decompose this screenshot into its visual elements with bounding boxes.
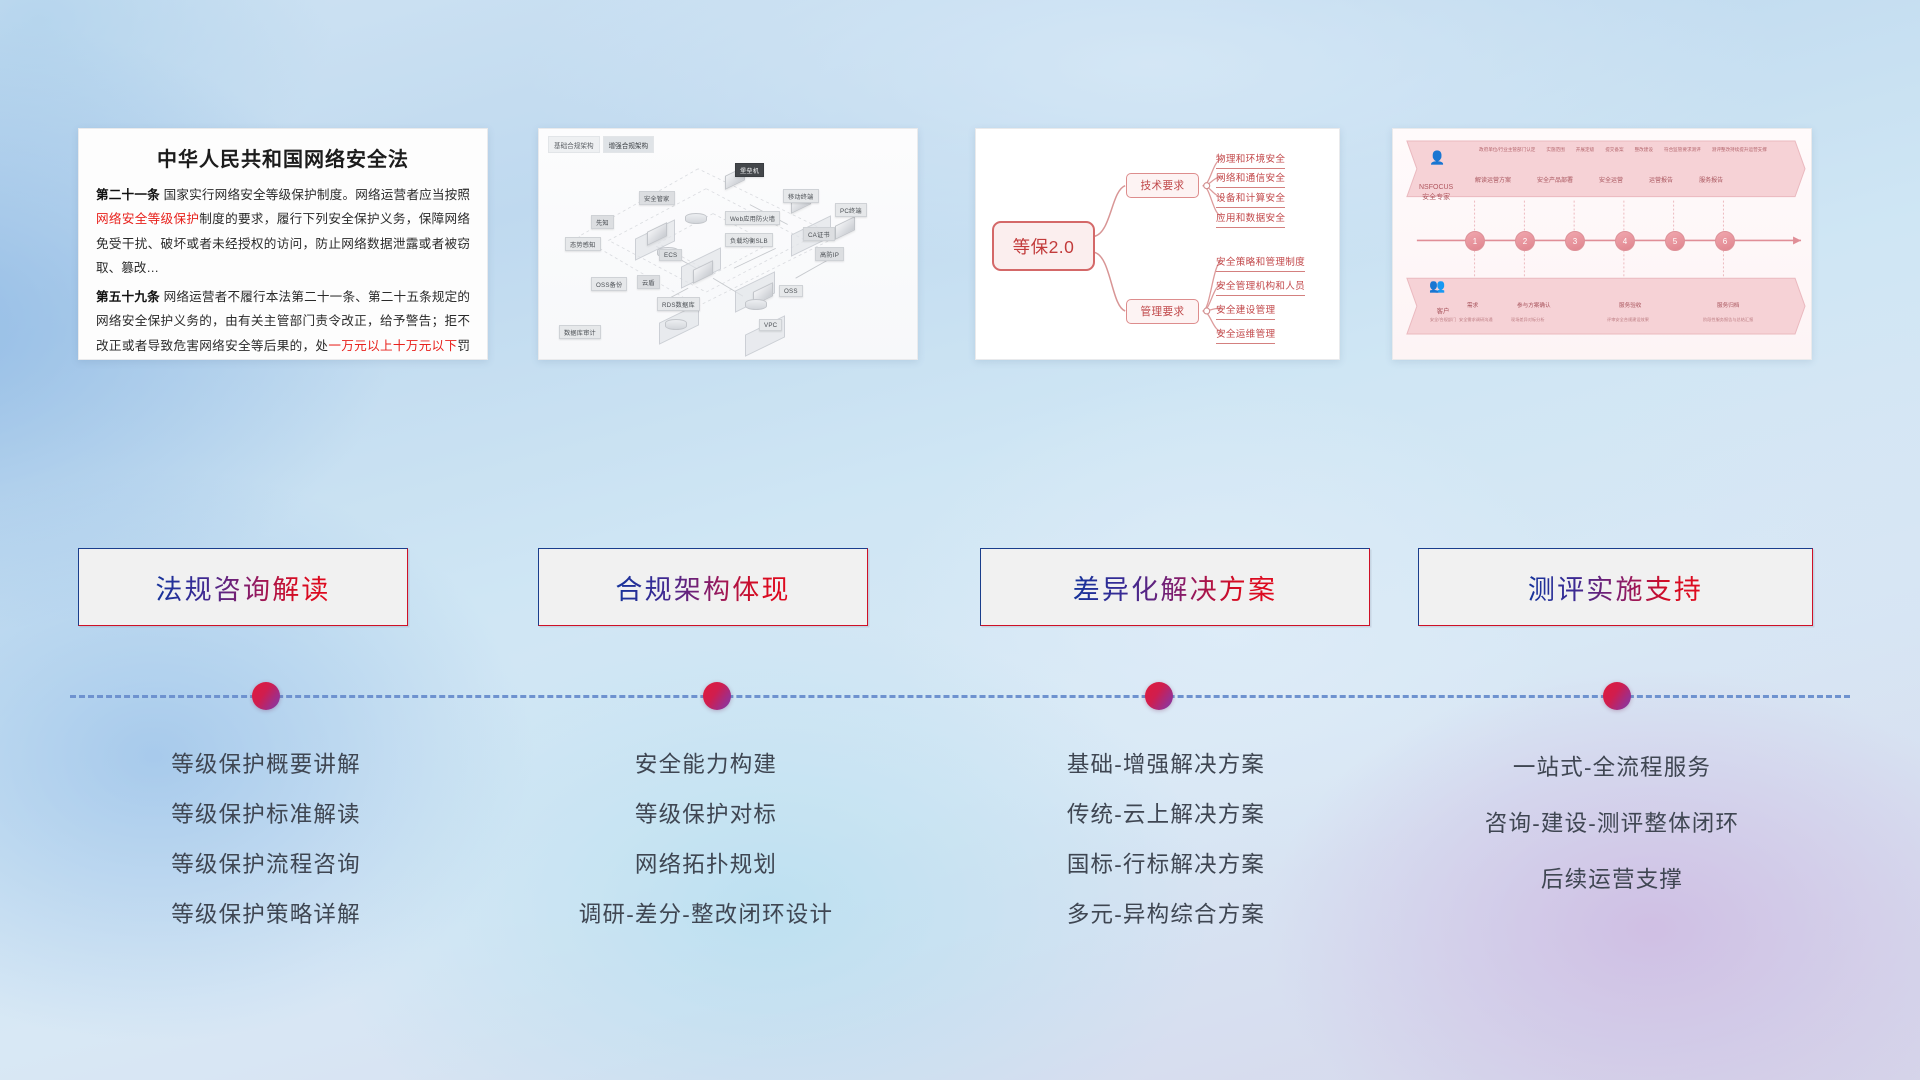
nsfocus-brand-line2: 安全专家: [1419, 193, 1453, 203]
node-ca-certificate[interactable]: CA证书: [803, 227, 835, 241]
svc-mid-item-2: 安全运营: [1599, 175, 1623, 184]
svc-top-item-4: 整改建设: [1635, 147, 1653, 153]
mindmap-leaf-physical-environment[interactable]: 物理和环境安全: [1216, 151, 1285, 169]
mindmap-leaf-security-policy[interactable]: 安全策略和管理制度: [1216, 254, 1305, 272]
expert-avatar-icon: 👤: [1429, 151, 1445, 164]
timeline-dot-3[interactable]: [1145, 682, 1173, 710]
list-item: 多元-异构综合方案: [966, 890, 1366, 940]
node-slb[interactable]: 负载均衡SLB: [725, 233, 773, 247]
node-oss-backup[interactable]: OSS备份: [591, 277, 627, 291]
mindmap-branch-technical[interactable]: 技术要求: [1126, 173, 1199, 198]
nsfocus-brand: NSFOCUS 安全专家: [1419, 183, 1453, 203]
nsfocus-brand-line1: NSFOCUS: [1419, 183, 1453, 193]
list-item: 等级保护标准解读: [106, 790, 426, 840]
architecture-diagram: 基础合规架构 增强合规架构: [539, 129, 917, 359]
node-xianzhi[interactable]: 先知: [591, 215, 614, 229]
article-59-label: 第五十九条: [96, 290, 160, 304]
svc-badge-service-archive: 服务归档: [1717, 301, 1739, 309]
detail-list-assessment: 一站式-全流程服务 咨询-建设-测评整体闭环 后续运营支撑: [1412, 740, 1812, 908]
timeline-dashed-line: [70, 695, 1850, 698]
list-item: 传统-云上解决方案: [966, 790, 1366, 840]
mindmap-root-node[interactable]: 等保2.0: [992, 221, 1095, 271]
banner-compliance-architecture[interactable]: 合规架构体现: [538, 548, 868, 626]
banner-differentiated-solution[interactable]: 差异化解决方案: [980, 548, 1370, 626]
list-item: 等级保护流程咨询: [106, 840, 426, 890]
card-compliance-architecture[interactable]: 基础合规架构 增强合规架构: [538, 128, 918, 360]
law-document: 中华人民共和国网络安全法 第二十一条 国家实行网络安全等级保护制度。网络运营者应…: [79, 129, 487, 360]
list-item: 等级保护策略详解: [106, 890, 426, 940]
iso-cylinder: [745, 299, 767, 310]
node-security-butler[interactable]: 安全管家: [639, 191, 675, 205]
banner-label-4: 测评实施支持: [1528, 568, 1703, 607]
node-ecs[interactable]: ECS: [659, 249, 682, 261]
svc-badge-requirement: 需求: [1467, 301, 1478, 309]
svc-badge-service-acceptance: 服务验收: [1619, 301, 1641, 309]
svc-mid-item-3: 运营报告: [1649, 175, 1673, 184]
banner-label-2: 合规架构体现: [615, 568, 790, 607]
svc-sub-0: 安全需求调研沟通: [1459, 317, 1493, 323]
list-item: 调研-差分-整改闭环设计: [546, 890, 866, 940]
mindmap-leaf-operation-maintenance[interactable]: 安全运维管理: [1216, 326, 1275, 344]
article-21-body-a: 国家实行网络安全等级保护制度。网络运营者应当按照: [164, 188, 470, 202]
banner-regulation-consulting[interactable]: 法规咨询解读: [78, 548, 408, 626]
node-database-audit[interactable]: 数据库审计: [559, 325, 601, 339]
list-item: 安全能力构建: [546, 740, 866, 790]
timeline-dot-2[interactable]: [703, 682, 731, 710]
svc-mid-item-4: 服务报告: [1699, 175, 1723, 184]
node-anti-ddos-ip[interactable]: 高防IP: [815, 247, 844, 261]
node-cloud-shield[interactable]: 云盾: [637, 275, 660, 289]
mindmap-leaf-application-data[interactable]: 应用和数据安全: [1216, 210, 1285, 228]
list-item: 咨询-建设-测评整体闭环: [1412, 796, 1812, 852]
card-mindmap-dengbao[interactable]: 等保2.0 技术要求 管理要求 物理和环境安全 网络和通信安全 设备和计算安全 …: [975, 128, 1340, 360]
list-item: 后续运营支撑: [1412, 852, 1812, 908]
node-waf[interactable]: Web应用防火墙: [725, 211, 780, 225]
node-situational-awareness[interactable]: 态势感知: [565, 237, 601, 251]
svc-sub-3: 阶段性服务报告与总结汇报: [1703, 317, 1753, 323]
svc-top-item-1: 实施范围: [1546, 147, 1564, 153]
card-cybersecurity-law[interactable]: 中华人民共和国网络安全法 第二十一条 国家实行网络安全等级保护制度。网络运营者应…: [78, 128, 488, 360]
mindmap-leaf-device-computing[interactable]: 设备和计算安全: [1216, 190, 1285, 208]
node-vpc[interactable]: VPC: [759, 319, 782, 331]
service-top-row: 政府单位/行业主管部门认定 实施范围 开展定级 提交备案 整改建设 符合监管要求…: [1479, 147, 1767, 153]
list-item: 一站式-全流程服务: [1412, 740, 1812, 796]
article-21-highlight: 网络安全等级保护: [96, 212, 199, 226]
service-mid-row: 解读运营方案 安全产品部署 安全运营 运营报告 服务报告: [1475, 175, 1723, 184]
detail-list-row: 等级保护概要讲解 等级保护标准解读 等级保护流程咨询 等级保护策略详解 安全能力…: [0, 740, 1920, 870]
article-59-highlight-a: 一万元以上十万元以下: [328, 339, 457, 353]
service-flow-bands: [1393, 129, 1811, 360]
iso-cylinder: [665, 319, 687, 330]
service-step-5[interactable]: 5: [1665, 231, 1685, 251]
section-title-row: 法规咨询解读 合规架构体现 差异化解决方案 测评实施支持: [0, 548, 1920, 626]
node-bastion-host[interactable]: 堡垒机: [735, 163, 764, 177]
article-21-label: 第二十一条: [96, 188, 160, 202]
svc-mid-item-0: 解读运营方案: [1475, 175, 1511, 184]
detail-list-architecture: 安全能力构建 等级保护对标 网络拓扑规划 调研-差分-整改闭环设计: [546, 740, 866, 940]
list-item: 国标-行标解决方案: [966, 840, 1366, 890]
detail-list-regulation: 等级保护概要讲解 等级保护标准解读 等级保护流程咨询 等级保护策略详解: [106, 740, 426, 940]
banner-assessment-support[interactable]: 测评实施支持: [1418, 548, 1813, 626]
service-step-2[interactable]: 2: [1515, 231, 1535, 251]
timeline: [0, 676, 1920, 716]
banner-label-1: 法规咨询解读: [155, 568, 330, 607]
node-mobile-terminal[interactable]: 移动终端: [783, 189, 819, 203]
service-step-4[interactable]: 4: [1615, 231, 1635, 251]
card-service-flow[interactable]: NSFOCUS 安全专家 👤 👥 客户 安全/合规部门 政府单位/行业主管部门认…: [1392, 128, 1812, 360]
svc-top-item-2: 开展定级: [1576, 147, 1594, 153]
iso-cylinder: [685, 213, 707, 224]
slide-canvas: 中华人民共和国网络安全法 第二十一条 国家实行网络安全等级保护制度。网络运营者应…: [0, 0, 1920, 1080]
list-item: 等级保护对标: [546, 790, 866, 840]
svc-sub-1: 现场差异对标分析: [1511, 317, 1545, 323]
service-step-6[interactable]: 6: [1715, 231, 1735, 251]
list-item: 网络拓扑规划: [546, 840, 866, 890]
detail-list-solution: 基础-增强解决方案 传统-云上解决方案 国标-行标解决方案 多元-异构综合方案: [966, 740, 1366, 940]
law-article-59: 第五十九条 网络运营者不履行本法第二十一条、第二十五条规定的网络安全保护义务的，…: [96, 285, 470, 360]
law-article-21: 第二十一条 国家实行网络安全等级保护制度。网络运营者应当按照网络安全等级保护制度…: [96, 183, 470, 280]
timeline-dot-1[interactable]: [252, 682, 280, 710]
law-title: 中华人民共和国网络安全法: [96, 143, 470, 172]
mindmap-leaf-network-communication[interactable]: 网络和通信安全: [1216, 170, 1285, 188]
service-flow-diagram: NSFOCUS 安全专家 👤 👥 客户 安全/合规部门 政府单位/行业主管部门认…: [1393, 129, 1811, 359]
svc-top-item-3: 提交备案: [1605, 147, 1623, 153]
timeline-dot-4[interactable]: [1603, 682, 1631, 710]
mindmap-leaf-security-org-personnel[interactable]: 安全管理机构和人员: [1216, 278, 1305, 296]
list-item: 等级保护概要讲解: [106, 740, 426, 790]
service-step-1[interactable]: 1: [1465, 231, 1485, 251]
mindmap-branch-management[interactable]: 管理要求: [1126, 299, 1199, 324]
mindmap-leaf-construction-management[interactable]: 安全建设管理: [1216, 302, 1275, 320]
svc-top-item-0: 政府单位/行业主管部门认定: [1479, 147, 1535, 153]
customer-role-title: 客户: [1415, 307, 1471, 317]
mindmap: 等保2.0 技术要求 管理要求 物理和环境安全 网络和通信安全 设备和计算安全 …: [976, 129, 1339, 359]
service-step-3[interactable]: 3: [1565, 231, 1585, 251]
svc-mid-item-1: 安全产品部署: [1537, 175, 1573, 184]
node-pc-terminal[interactable]: PC终端: [835, 203, 867, 217]
svc-badge-plan-confirm: 参与方案确认: [1517, 301, 1551, 309]
list-item: 基础-增强解决方案: [966, 740, 1366, 790]
node-rds-database[interactable]: RDS数据库: [657, 297, 700, 311]
customer-avatar-icon: 👥: [1429, 279, 1445, 292]
svc-top-item-6: 测评整改持续提升运营支撑: [1712, 147, 1767, 153]
node-oss[interactable]: OSS: [779, 285, 803, 297]
preview-card-row: 中华人民共和国网络安全法 第二十一条 国家实行网络安全等级保护制度。网络运营者应…: [0, 128, 1920, 360]
svc-top-item-5: 符合监管要求测评: [1664, 147, 1701, 153]
svc-sub-2: 评审安全合规建设效果: [1607, 317, 1649, 323]
banner-label-3: 差异化解决方案: [1073, 568, 1277, 607]
